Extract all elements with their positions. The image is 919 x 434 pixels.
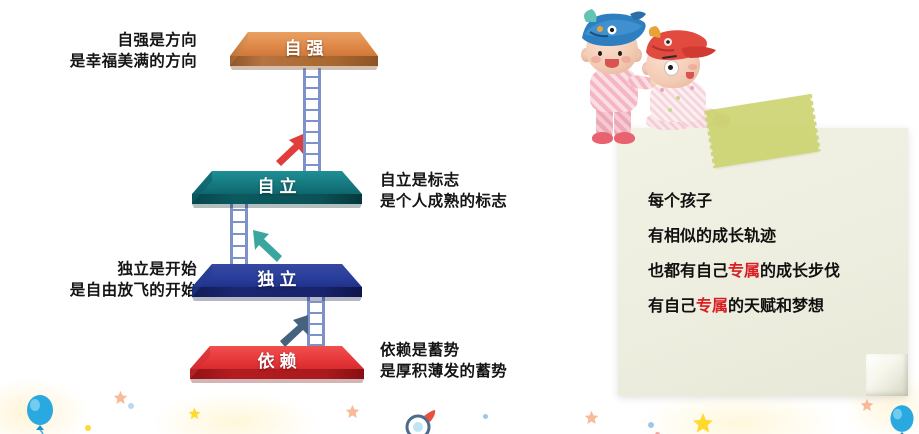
platform-duli[interactable]: 独立 [192,260,362,305]
star-icon [860,398,874,417]
balloon-icon [886,404,918,434]
caption-yilai-line1: 依赖是蓄势 [380,340,507,361]
kid-left-eye [598,51,602,56]
rocket-icon [404,408,438,434]
caption-ziqiang: 自强是方向 是幸福美满的方向 [0,30,197,72]
platform-ziqiang[interactable]: 自强 [230,28,378,78]
caption-duli-line2: 是自由放飞的开始 [0,280,197,301]
note-line-3: 也都有自己专属的成长步伐 [648,254,840,289]
star-icon [113,390,128,410]
arrow-to-duli-icon [277,313,311,349]
kid-left-body [590,68,638,112]
kid-left-cheek [591,56,601,63]
arrow-to-zili-icon [249,228,285,266]
caption-duli: 独立是开始 是自由放飞的开始 [0,259,197,301]
kid-right-cap [638,26,718,68]
note-line-1: 每个孩子 [648,184,840,219]
star-icon [345,404,360,424]
caption-duli-line1: 独立是开始 [0,259,197,280]
note-line-2: 有相似的成长轨迹 [648,219,840,254]
caption-zili-line2: 是个人成熟的标志 [380,191,507,212]
note-text-block: 每个孩子 有相似的成长轨迹 也都有自己专属的成长步伐 有自己专属的天赋和梦想 [648,184,840,324]
dot-decoration [648,422,654,428]
dot-decoration [85,425,91,431]
kid-left-mouth [605,59,619,68]
star-icon [188,407,201,425]
caption-ziqiang-line1: 自强是方向 [0,30,197,51]
dot-decoration [483,414,488,419]
caption-zili-line1: 自立是标志 [380,170,507,191]
kid-right-pupil [668,65,673,70]
kid-left-eye [618,51,622,56]
caption-zili: 自立是标志 是个人成熟的标志 [380,170,507,212]
platform-zili[interactable]: 自立 [192,168,362,213]
caption-ziqiang-line2: 是幸福美满的方向 [0,51,197,72]
star-icon [584,410,599,430]
kid-left-foot [592,132,613,144]
slide-canvas: 自强是方向 是幸福美满的方向 自立是标志 是个人成熟的标志 独立是开始 是自由放… [0,0,919,434]
note-page-fold [866,354,908,396]
kid-left-cheek [621,56,631,63]
caption-yilai-line2: 是厚积薄发的蓄势 [380,361,507,382]
dot-decoration [128,403,134,409]
note-line-4: 有自己专属的天赋和梦想 [648,289,840,324]
balloon-icon [22,394,58,434]
caption-yilai: 依赖是蓄势 是厚积薄发的蓄势 [380,340,507,382]
star-icon [692,412,714,434]
kid-right-cheek [688,64,697,70]
arrow-to-ziqiang-icon [272,131,306,169]
kid-right-mouth [686,72,694,79]
kid-left-foot [614,132,635,144]
